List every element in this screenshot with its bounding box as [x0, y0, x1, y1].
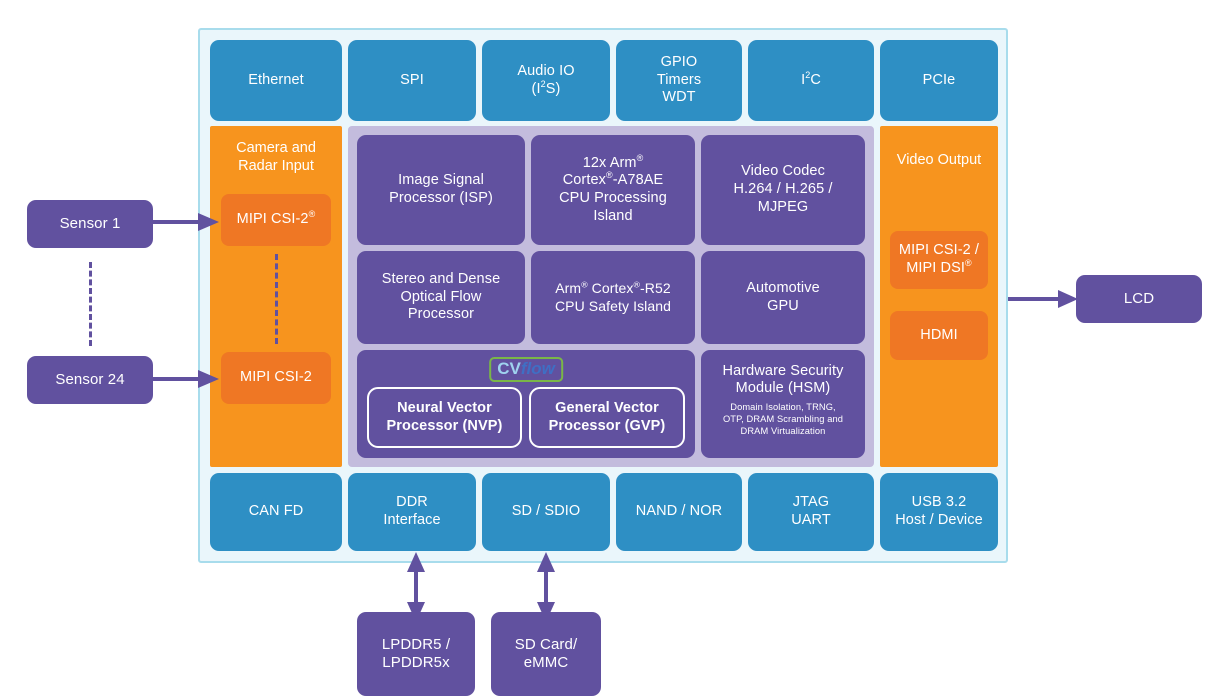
arrow-sensor-24-to-mipi-csi-2 — [153, 370, 219, 388]
arrow-sdio-to-sd-card — [537, 552, 555, 622]
arrow-sensor-1-to-mipi-csi-2 — [153, 213, 219, 231]
block-diagram-canvas: Ethernet SPI Audio IO (I2S) GPIO Timers … — [0, 0, 1208, 698]
connector-arrows — [0, 0, 1208, 698]
arrow-ddr-to-lpddr5 — [407, 552, 425, 622]
arrow-video-output-to-lcd — [1008, 290, 1078, 308]
